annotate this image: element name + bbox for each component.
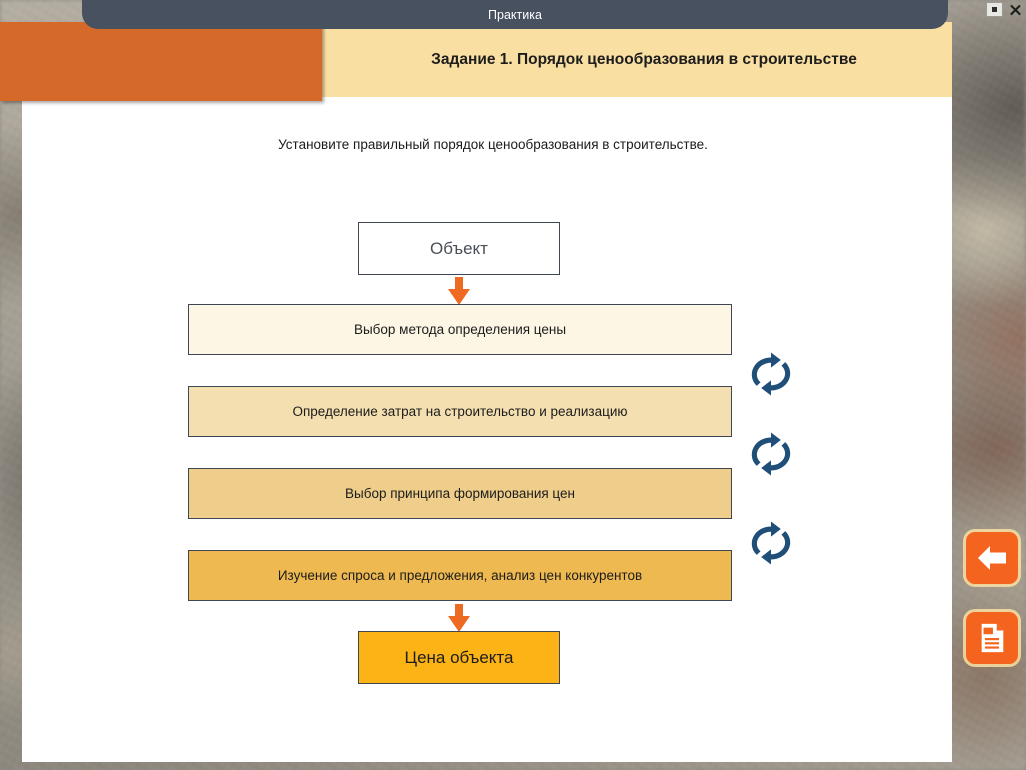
swap-icon-step-1-2[interactable] bbox=[748, 352, 794, 396]
task-header-band: Задание 1. Порядок ценообразования в стр… bbox=[322, 22, 952, 97]
app-root: Практика Задание 1. Порядок ценообразова… bbox=[0, 0, 1026, 770]
window-controls bbox=[986, 2, 1022, 17]
flow-step-3-label: Выбор принципа формирования цен bbox=[345, 486, 575, 501]
window-title: Практика bbox=[488, 8, 542, 22]
arrow-object-to-step-1 bbox=[448, 277, 470, 305]
flow-step-2-label: Определение затрат на строительство и ре… bbox=[292, 404, 627, 419]
flow-node-price[interactable]: Цена объекта bbox=[358, 631, 560, 684]
back-arrow-icon bbox=[975, 541, 1009, 575]
back-button[interactable] bbox=[966, 532, 1018, 584]
flow-step-4[interactable]: Изучение спроса и предложения, анализ це… bbox=[188, 550, 732, 601]
pricing-flow-diagram: Объект Выбор метода определения цены Опр… bbox=[22, 97, 952, 762]
flow-step-1-label: Выбор метода определения цены bbox=[354, 322, 566, 337]
flow-step-2[interactable]: Определение затрат на строительство и ре… bbox=[188, 386, 732, 437]
document-button[interactable] bbox=[966, 612, 1018, 664]
content-page: Установите правильный порядок ценообразо… bbox=[22, 97, 952, 762]
flow-step-3[interactable]: Выбор принципа формирования цен bbox=[188, 468, 732, 519]
flow-step-1[interactable]: Выбор метода определения цены bbox=[188, 304, 732, 355]
flow-node-object[interactable]: Объект bbox=[358, 222, 560, 275]
close-icon[interactable] bbox=[1008, 3, 1022, 17]
arrow-step-4-to-price bbox=[448, 604, 470, 632]
flow-node-object-label: Объект bbox=[430, 239, 488, 259]
swap-icon-step-2-3[interactable] bbox=[748, 432, 794, 476]
window-titlebar: Практика bbox=[82, 0, 948, 29]
orange-accent-block bbox=[0, 22, 322, 101]
page-title: Задание 1. Порядок ценообразования в стр… bbox=[417, 51, 857, 69]
flow-step-4-label: Изучение спроса и предложения, анализ це… bbox=[278, 568, 642, 583]
minimize-icon[interactable] bbox=[986, 2, 1003, 17]
flow-node-price-label: Цена объекта bbox=[405, 648, 514, 668]
swap-icon-step-3-4[interactable] bbox=[748, 521, 794, 565]
document-icon bbox=[976, 622, 1008, 654]
